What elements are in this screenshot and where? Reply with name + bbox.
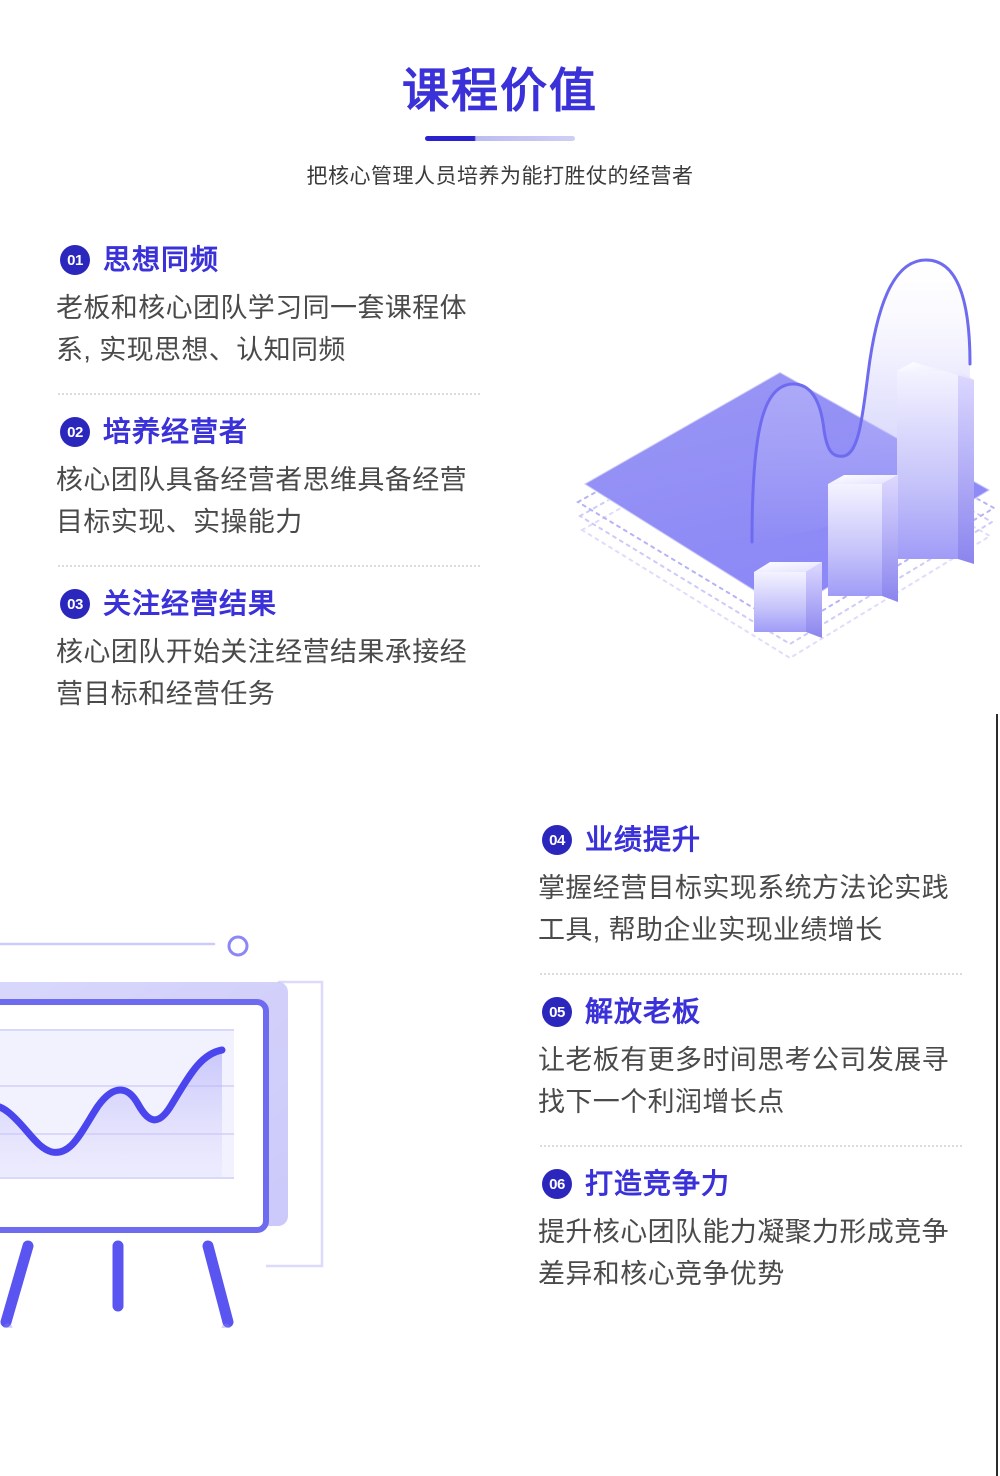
bar-3	[897, 362, 974, 564]
value-item-06-title: 打造竞争力	[585, 1167, 730, 1201]
value-item-06-badge: 06	[542, 1169, 572, 1199]
presentation-easel-illustration	[0, 898, 382, 1328]
value-item-01-badge: 01	[60, 245, 90, 275]
title-underline-decoration	[425, 136, 575, 141]
value-item-05: 05 解放老板 让老板有更多时间思考公司发展寻找下一个利润增长点	[538, 995, 968, 1123]
page-subtitle: 把核心管理人员培养为能打胜仗的经营者	[0, 162, 1000, 192]
divider-1	[58, 393, 480, 395]
value-item-04-body: 掌握经营目标实现系统方法论实践工具, 帮助企业实现业绩增长	[538, 867, 958, 951]
value-item-02: 02 培养经营者 核心团队具备经营者思维具备经营目标实现、实操能力	[56, 415, 486, 543]
value-item-03: 03 关注经营结果 核心团队开始关注经营结果承接经营目标和经营任务	[56, 587, 486, 715]
right-edge-rule	[996, 714, 998, 1476]
value-item-02-head: 02 培养经营者	[60, 415, 486, 449]
value-item-01: 01 思想同频 老板和核心团队学习同一套课程体系, 实现思想、认知同频	[56, 243, 486, 371]
value-list-left: 01 思想同频 老板和核心团队学习同一套课程体系, 实现思想、认知同频 02 培…	[56, 243, 486, 715]
value-item-03-head: 03 关注经营结果	[60, 587, 486, 621]
divider-3	[540, 973, 962, 975]
isometric-bar-chart-illustration	[566, 244, 1000, 724]
page-header: 课程价值 把核心管理人员培养为能打胜仗的经营者	[0, 62, 1000, 192]
value-item-04-badge: 04	[542, 825, 572, 855]
bar-2	[828, 475, 898, 602]
value-item-03-body: 核心团队开始关注经营结果承接经营目标和经营任务	[56, 631, 476, 715]
value-item-02-badge: 02	[60, 417, 90, 447]
value-list-right: 04 业绩提升 掌握经营目标实现系统方法论实践工具, 帮助企业实现业绩增长 05…	[538, 823, 968, 1295]
value-item-05-badge: 05	[542, 997, 572, 1027]
value-item-04: 04 业绩提升 掌握经营目标实现系统方法论实践工具, 帮助企业实现业绩增长	[538, 823, 968, 951]
value-item-03-title: 关注经营结果	[103, 587, 277, 621]
value-item-01-title: 思想同频	[103, 243, 219, 277]
page-title: 课程价值	[0, 62, 1000, 120]
value-item-04-title: 业绩提升	[585, 823, 701, 857]
bar-1	[754, 562, 822, 638]
course-value-page: 课程价值 把核心管理人员培养为能打胜仗的经营者	[0, 0, 1000, 1476]
value-item-04-head: 04 业绩提升	[542, 823, 968, 857]
value-item-05-title: 解放老板	[585, 995, 701, 1029]
value-item-01-body: 老板和核心团队学习同一套课程体系, 实现思想、认知同频	[56, 287, 476, 371]
divider-4	[540, 1145, 962, 1147]
value-item-06-body: 提升核心团队能力凝聚力形成竞争差异和核心竞争优势	[538, 1211, 958, 1295]
value-item-06: 06 打造竞争力 提升核心团队能力凝聚力形成竞争差异和核心竞争优势	[538, 1167, 968, 1295]
value-item-03-badge: 03	[60, 589, 90, 619]
value-item-02-title: 培养经营者	[103, 415, 248, 449]
value-item-01-head: 01 思想同频	[60, 243, 486, 277]
value-item-05-body: 让老板有更多时间思考公司发展寻找下一个利润增长点	[538, 1039, 958, 1123]
value-item-05-head: 05 解放老板	[542, 995, 968, 1029]
value-item-06-head: 06 打造竞争力	[542, 1167, 968, 1201]
value-item-02-body: 核心团队具备经营者思维具备经营目标实现、实操能力	[56, 459, 476, 543]
divider-2	[58, 565, 480, 567]
